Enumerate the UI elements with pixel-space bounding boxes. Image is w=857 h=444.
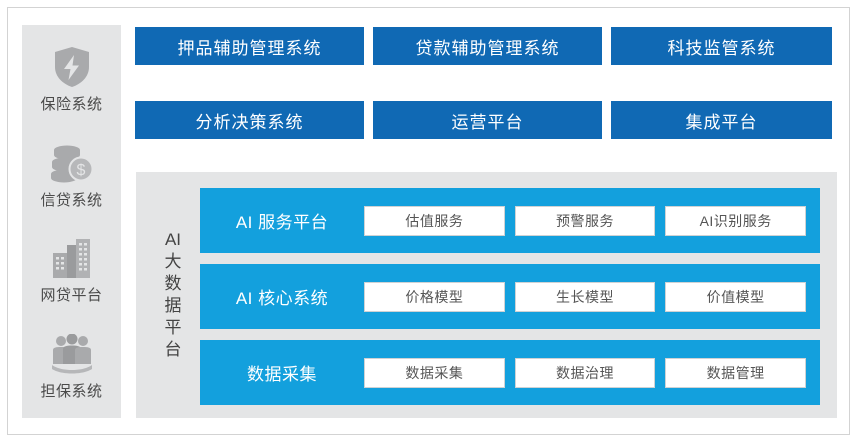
ai-platform-vertical-label: AI 大 数 据 平 台 [156,188,190,402]
system-card-tech-supervision[interactable]: 科技监管系统 [611,27,832,65]
ai-row-cells: 估值服务 预警服务 AI识别服务 [364,206,820,236]
sidebar-item-label: 网贷平台 [40,284,102,305]
coins-dollar-icon: $ [49,140,95,186]
ai-row-data-collection: 数据采集 数据采集 数据治理 数据管理 [200,340,820,405]
ai-cell[interactable]: 数据管理 [665,358,806,388]
shield-bolt-icon [49,44,95,90]
ai-cell[interactable]: 价值模型 [665,282,806,312]
sidebar-item-guarantee[interactable]: 担保系统 [22,331,121,401]
sidebar-item-label: 担保系统 [40,380,102,401]
sidebar-item-credit[interactable]: $ 信贷系统 [22,140,121,210]
ai-cell[interactable]: 价格模型 [364,282,505,312]
ai-cell[interactable]: 数据治理 [515,358,656,388]
sidebar-item-label: 保险系统 [40,93,102,114]
ai-row-cells: 价格模型 生长模型 价值模型 [364,282,820,312]
ai-cell[interactable]: AI识别服务 [665,206,806,236]
ai-cell[interactable]: 预警服务 [515,206,656,236]
people-group-icon [49,331,95,377]
system-card-analysis-decision[interactable]: 分析决策系统 [135,101,364,139]
vertical-char: 大 [165,253,182,271]
ai-bigdata-platform-panel: AI 大 数 据 平 台 AI 服务平台 估值服务 预警服务 AI识别服务 AI… [136,172,837,418]
ai-cell[interactable]: 数据采集 [364,358,505,388]
diagram-root: 保险系统 $ 信贷系统 [0,0,857,444]
vertical-char: 据 [165,297,182,315]
vertical-char: AI [165,231,181,249]
ai-row-title: 数据采集 [200,360,364,385]
ai-row-title: AI 核心系统 [200,284,364,309]
ai-row-title: AI 服务平台 [200,208,364,233]
vertical-char: 平 [165,319,182,337]
system-card-operations-platform[interactable]: 运营平台 [373,101,602,139]
ai-cell[interactable]: 估值服务 [364,206,505,236]
sidebar-item-insurance[interactable]: 保险系统 [22,44,121,114]
sidebar: 保险系统 $ 信贷系统 [22,25,121,418]
svg-text:$: $ [76,162,85,179]
ai-row-service-platform: AI 服务平台 估值服务 预警服务 AI识别服务 [200,188,820,253]
ai-cell[interactable]: 生长模型 [515,282,656,312]
sidebar-item-label: 信贷系统 [40,189,102,210]
ai-row-cells: 数据采集 数据治理 数据管理 [364,358,820,388]
vertical-char: 台 [165,341,182,359]
system-card-integration-platform[interactable]: 集成平台 [611,101,832,139]
buildings-icon [49,235,95,281]
ai-row-core-system: AI 核心系统 价格模型 生长模型 价值模型 [200,264,820,329]
sidebar-item-online-loan[interactable]: 网贷平台 [22,235,121,305]
vertical-char: 数 [165,275,182,293]
system-card-loan-aux-mgmt[interactable]: 贷款辅助管理系统 [373,27,602,65]
system-card-collateral-aux-mgmt[interactable]: 押品辅助管理系统 [135,27,364,65]
